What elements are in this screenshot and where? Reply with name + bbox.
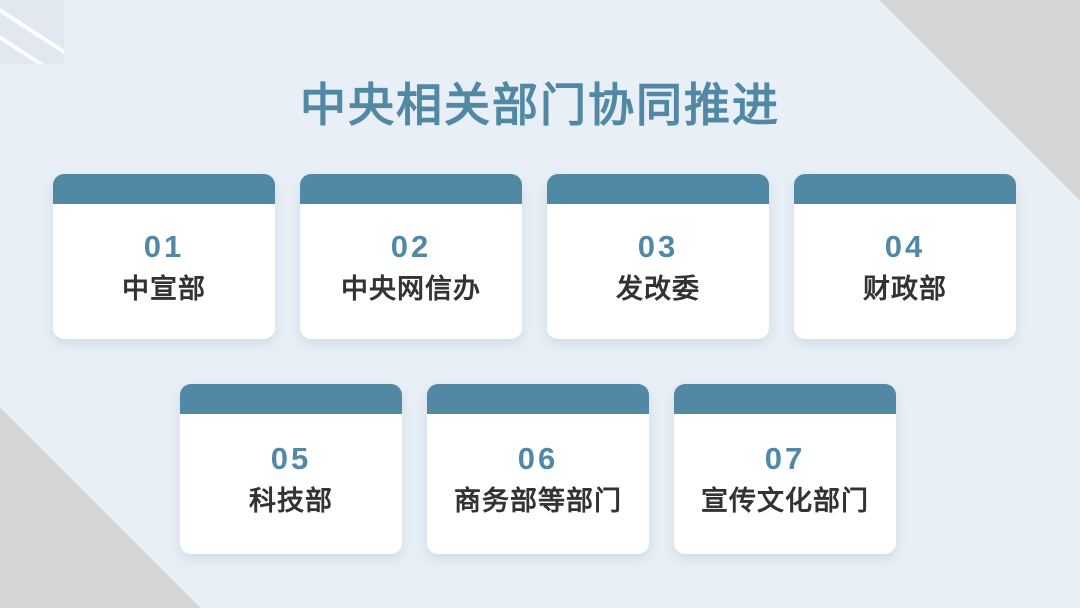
card-number: 01 [144, 231, 184, 262]
card-body: 02 中央网信办 [300, 204, 522, 339]
card-06[interactable]: 06 商务部等部门 [427, 384, 649, 554]
card-label: 财政部 [863, 276, 947, 303]
card-body: 05 科技部 [180, 414, 402, 554]
card-label: 中宣部 [122, 276, 206, 303]
card-body: 04 财政部 [794, 204, 1016, 339]
decor-corner-bottom-left [0, 408, 200, 608]
card-body: 06 商务部等部门 [427, 414, 649, 554]
card-body: 03 发改委 [547, 204, 769, 339]
card-body: 01 中宣部 [53, 204, 275, 339]
decor-stripe-1 [0, 4, 64, 64]
card-body: 07 宣传文化部门 [674, 414, 896, 554]
card-row-2: 05 科技部 06 商务部等部门 07 宣传文化部门 [180, 384, 896, 554]
card-03[interactable]: 03 发改委 [547, 174, 769, 339]
card-04[interactable]: 04 财政部 [794, 174, 1016, 339]
card-row-1: 01 中宣部 02 中央网信办 03 发改委 04 财政部 [53, 174, 1016, 339]
card-header-band [180, 384, 402, 414]
decor-dashed-line-bottom-left [0, 547, 153, 608]
card-01[interactable]: 01 中宣部 [53, 174, 275, 339]
card-number: 06 [518, 443, 558, 474]
card-header-band [674, 384, 896, 414]
page-title: 中央相关部门协同推进 [0, 78, 1080, 133]
card-05[interactable]: 05 科技部 [180, 384, 402, 554]
card-label: 商务部等部门 [454, 488, 622, 515]
card-label: 科技部 [249, 488, 333, 515]
card-07[interactable]: 07 宣传文化部门 [674, 384, 896, 554]
card-number: 03 [638, 231, 678, 262]
card-number: 04 [885, 231, 925, 262]
card-label: 中央网信办 [341, 276, 481, 303]
card-header-band [547, 174, 769, 204]
decor-stripe-2 [0, 26, 64, 64]
card-header-band [794, 174, 1016, 204]
slide-canvas: 中央相关部门协同推进 01 中宣部 02 中央网信办 03 发改委 [0, 0, 1080, 608]
decor-dashed-line-top-right [927, 0, 1080, 61]
card-label: 宣传文化部门 [701, 488, 869, 515]
card-header-band [427, 384, 649, 414]
card-number: 07 [765, 443, 805, 474]
card-number: 02 [391, 231, 431, 262]
card-number: 05 [271, 443, 311, 474]
decor-corner-top-left [0, 0, 64, 64]
card-header-band [300, 174, 522, 204]
card-02[interactable]: 02 中央网信办 [300, 174, 522, 339]
card-label: 发改委 [616, 276, 700, 303]
card-header-band [53, 174, 275, 204]
